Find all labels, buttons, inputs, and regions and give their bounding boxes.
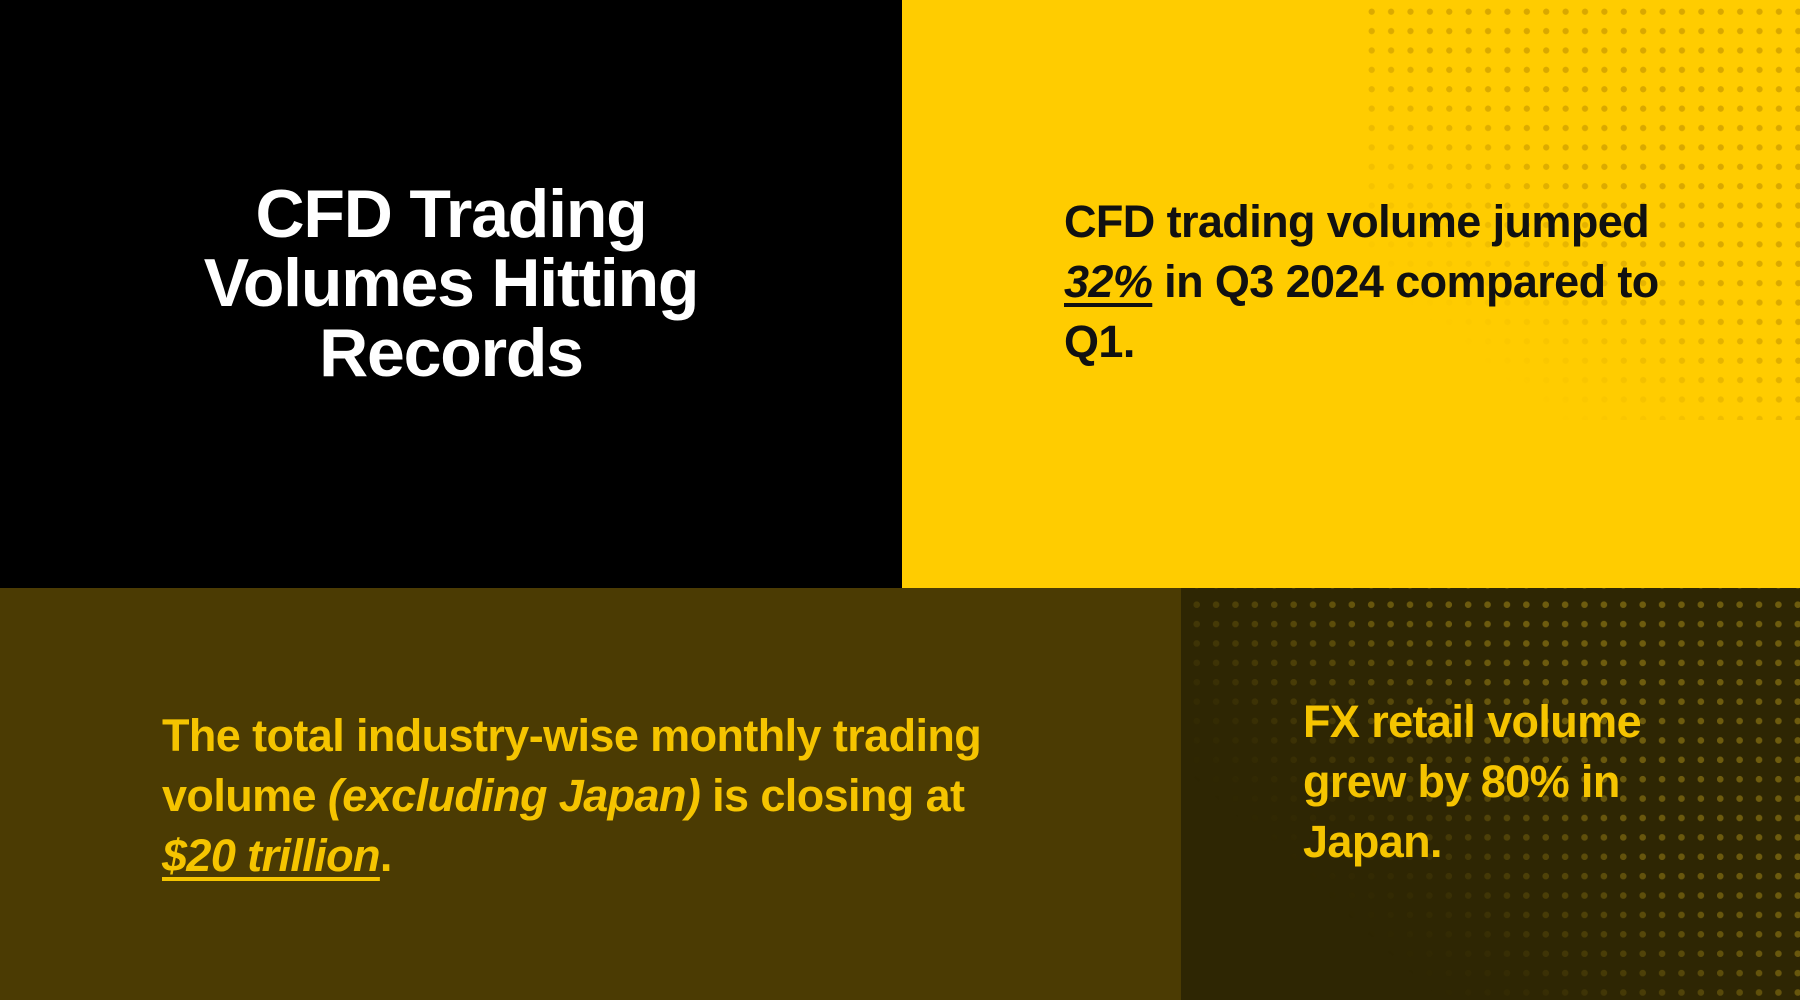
title-line-2: Volumes Hitting	[204, 245, 699, 321]
stat-cfd-highlight: 32%	[1064, 256, 1152, 307]
infographic-canvas: CFD Trading Volumes Hitting Records CFD …	[0, 0, 1800, 1000]
stat-industry-parenthetical: (excluding Japan)	[328, 770, 700, 821]
panel-stat-fx: FX retail volume grew by 80% in Japan.	[1181, 588, 1800, 1000]
page-title: CFD Trading Volumes Hitting Records	[141, 180, 761, 388]
stat-fx-statement: FX retail volume grew by 80% in Japan.	[1303, 692, 1703, 872]
panel-stat-industry: The total industry-wise monthly trading …	[0, 588, 1181, 1000]
stat-industry-highlight: $20 trillion	[162, 830, 380, 881]
stat-industry-statement: The total industry-wise monthly trading …	[162, 706, 1022, 886]
stat-industry-text-middle: is closing at	[700, 770, 964, 821]
title-line-1: CFD Trading	[255, 176, 646, 252]
stat-cfd-statement: CFD trading volume jumped 32% in Q3 2024…	[1064, 192, 1664, 372]
title-line-3: Records	[319, 315, 583, 391]
panel-title: CFD Trading Volumes Hitting Records	[0, 0, 902, 588]
stat-cfd-text-before: CFD trading volume jumped	[1064, 196, 1649, 247]
stat-industry-text-after: .	[380, 830, 392, 881]
stat-cfd-text-after: in Q3 2024 compared to Q1.	[1064, 256, 1659, 367]
panel-stat-cfd: CFD trading volume jumped 32% in Q3 2024…	[902, 0, 1800, 588]
